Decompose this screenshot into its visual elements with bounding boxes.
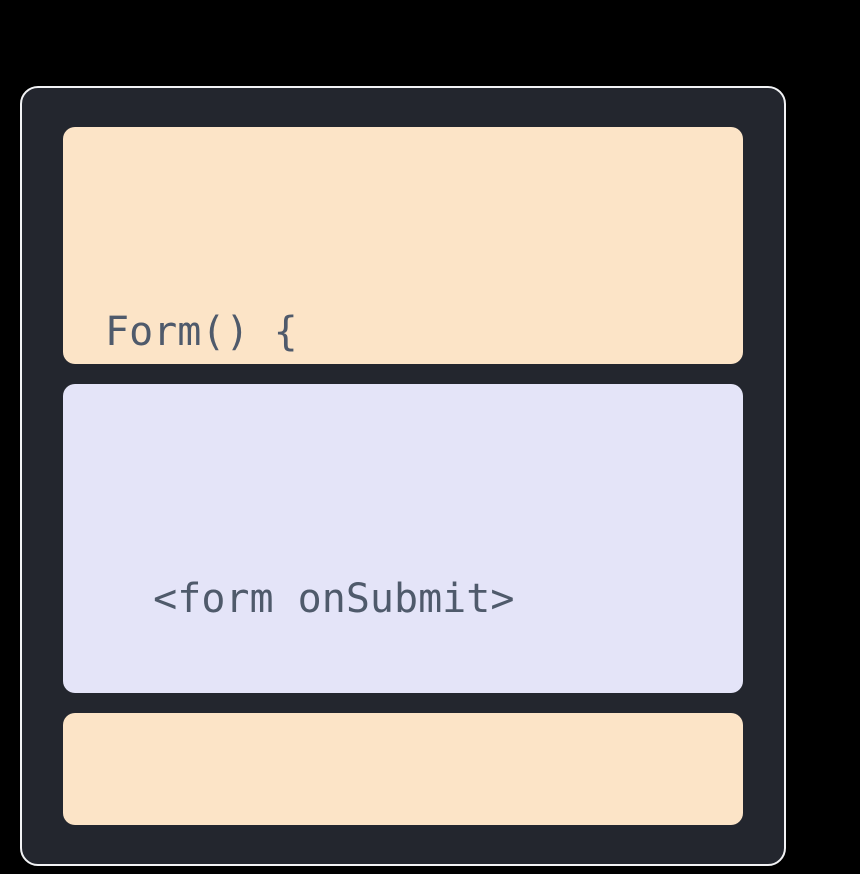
code-line: Form() {: [63, 295, 743, 364]
screenshot-stage: Form() { onClick() {...} onSubmit() {...…: [0, 0, 860, 874]
code-line: <form onSubmit>: [63, 562, 743, 637]
code-card: Form() { onClick() {...} onSubmit() {...…: [20, 86, 786, 866]
jsx-markup-block: <form onSubmit> <input onClick /> <input…: [63, 384, 743, 693]
closing-brace-block: }: [63, 713, 743, 825]
component-function-block: Form() { onClick() {...} onSubmit() {...…: [63, 127, 743, 364]
